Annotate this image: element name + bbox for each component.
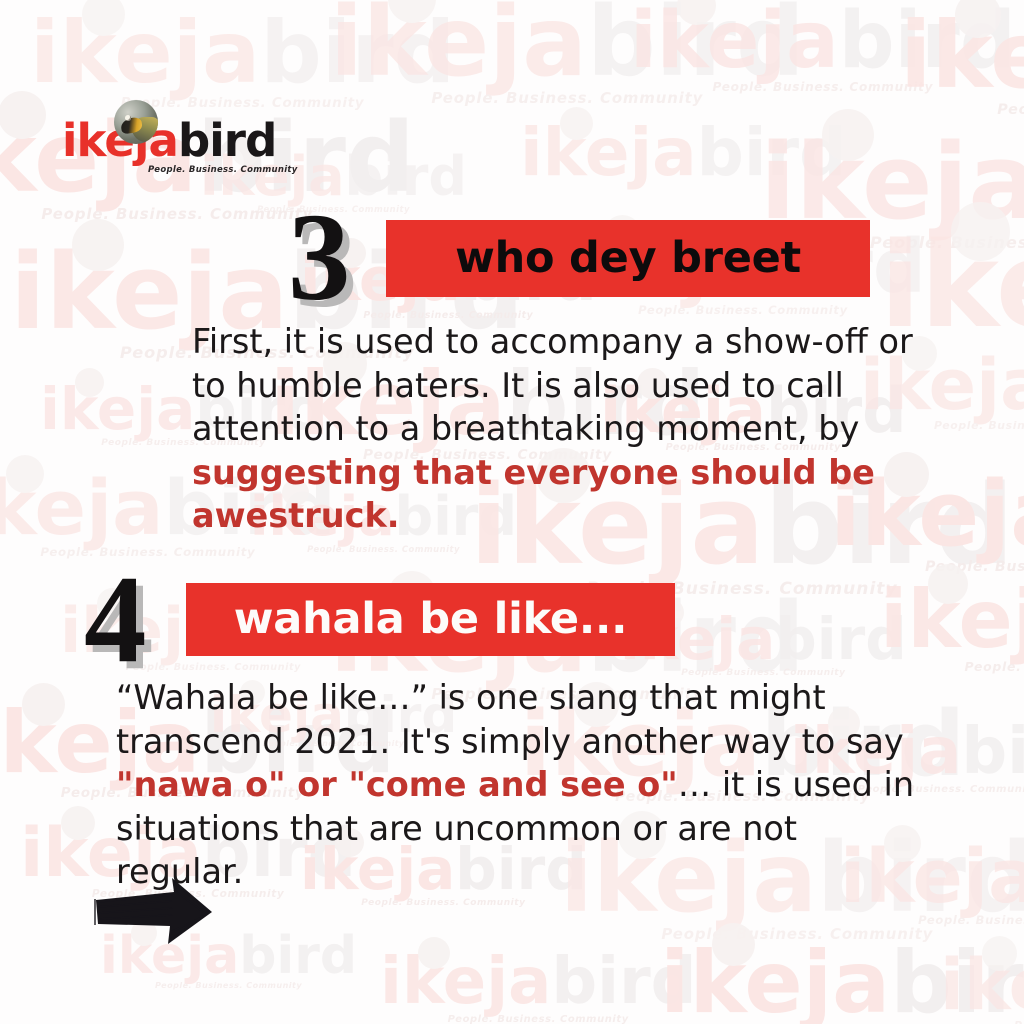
logo-word-bird: bird xyxy=(178,114,276,167)
section-number-4: 4 xyxy=(84,558,147,683)
section-4-banner: wahala be like... xyxy=(186,583,675,656)
sketch-arrow-right-icon xyxy=(88,872,218,952)
poster-canvas: ikejabirdPeople. Business. Communityikej… xyxy=(0,0,1024,1024)
section-4-body-part-1: "nawa o" or "come and see o" xyxy=(116,765,678,804)
logo-tagline: People. Business. Community xyxy=(148,165,298,175)
section-4-body: “Wahala be like…” is one slang that migh… xyxy=(116,676,922,894)
parrot-circle-icon xyxy=(114,100,158,144)
section-4-body-part-0: “Wahala be like…” is one slang that migh… xyxy=(116,678,904,761)
logo-wordmark: ikejabird xyxy=(62,118,276,163)
brand-logo: ikejabird People. Business. Community xyxy=(62,118,276,163)
section-4-banner-label: wahala be like... xyxy=(186,598,675,641)
